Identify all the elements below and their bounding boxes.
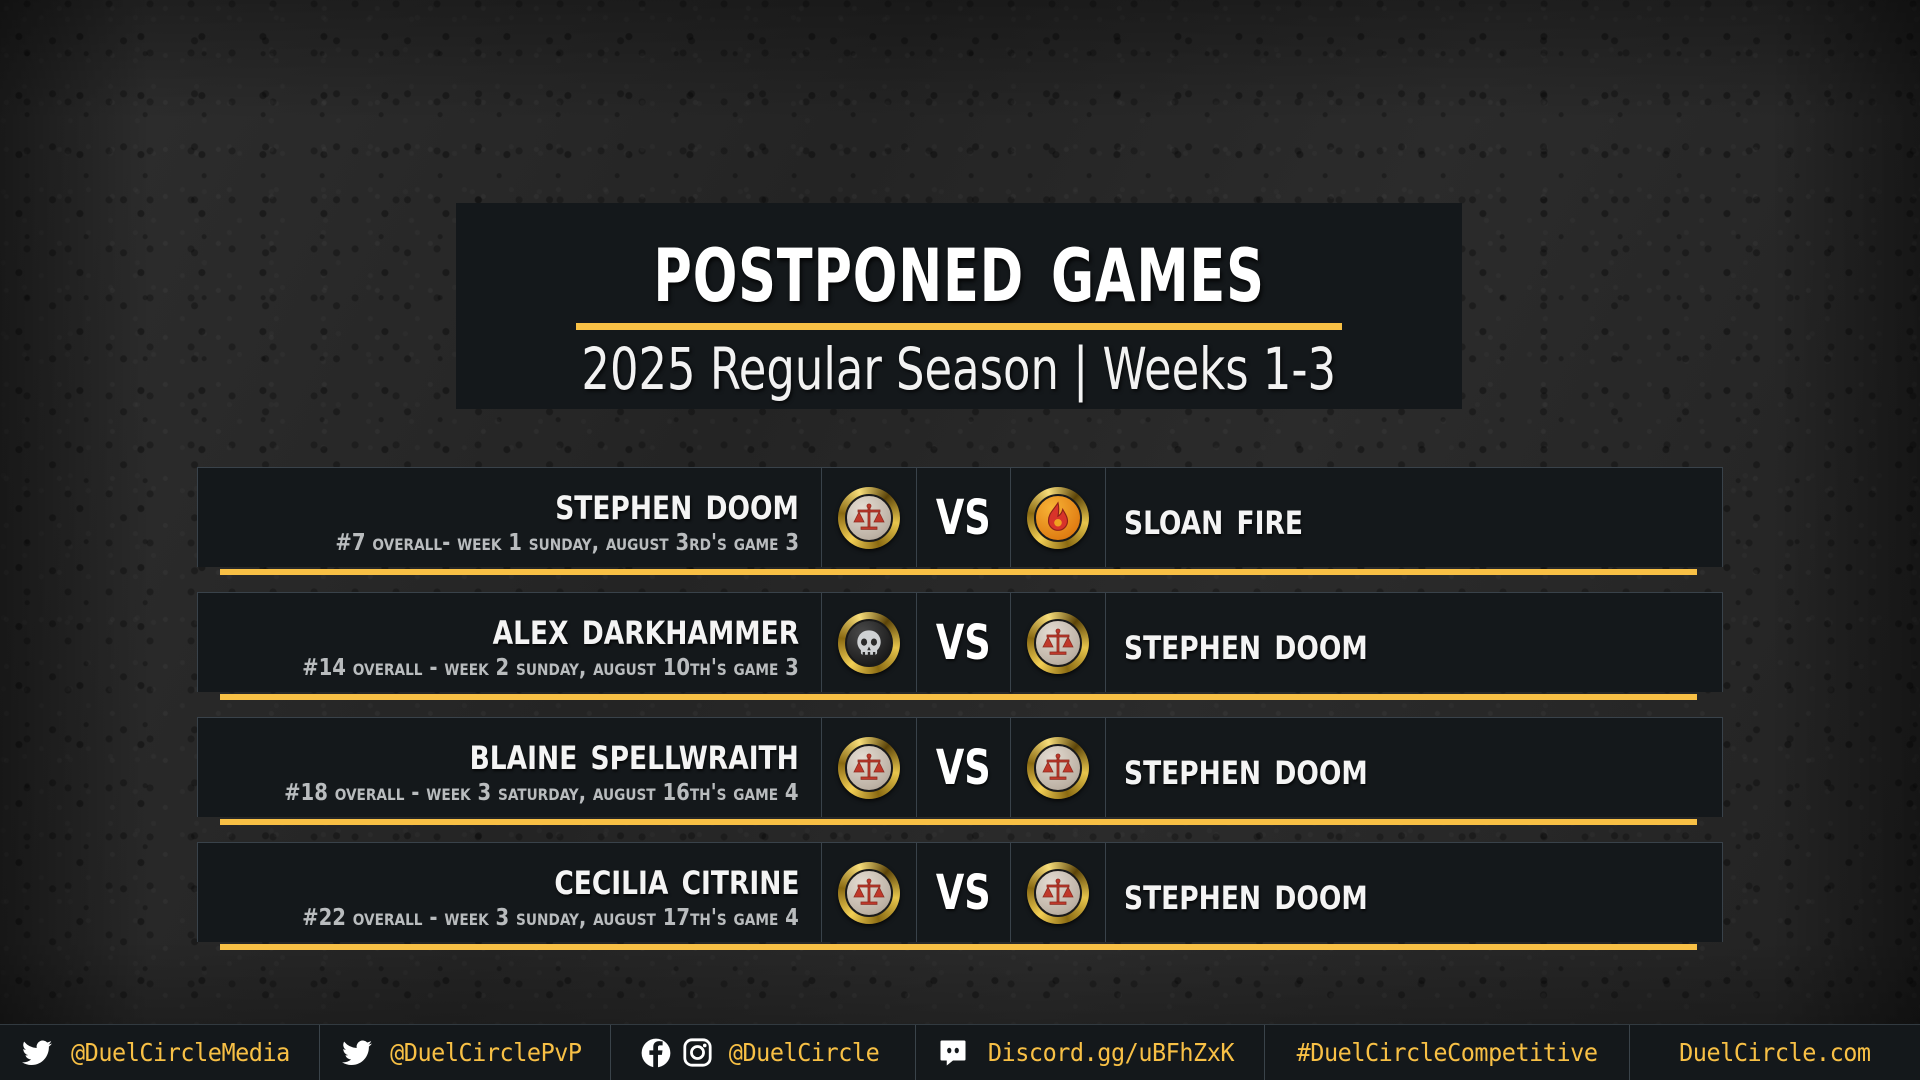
vs-label: VS (936, 619, 991, 667)
right-player-name: Sloan Fire (1124, 494, 1303, 542)
badge-inner (845, 869, 893, 917)
left-player-meta: #22 Overall - Week 3 Sunday, August 17th… (302, 904, 799, 932)
footer-item-hashtag[interactable]: #DuelCircleCompetitive (1265, 1025, 1630, 1080)
footer-label: DuelCircle.com (1679, 1038, 1870, 1067)
match-right-player: Sloan Fire (1106, 468, 1722, 567)
left-player-emblem-cell (822, 718, 917, 817)
footer-label: #DuelCircleCompetitive (1296, 1038, 1597, 1067)
badge-inner (845, 494, 893, 542)
table-row: Stephen Doom #7 Overall- Week 1 Sunday, … (197, 467, 1723, 567)
left-player-name: Stephen Doom (555, 479, 799, 527)
scales-icon (838, 862, 900, 924)
footer-item-discord[interactable]: Discord.gg/uBFhZxK (916, 1025, 1265, 1080)
scales-icon (1027, 737, 1089, 799)
footer-label: @DuelCircleMedia (71, 1038, 290, 1067)
badge-inner (845, 619, 893, 667)
row-accent-rule (220, 944, 1697, 950)
vs-separator: VS (917, 718, 1011, 817)
footer-item-website[interactable]: DuelCircle.com (1630, 1025, 1920, 1080)
badge-inner (1034, 869, 1082, 917)
row-accent-rule (220, 694, 1697, 700)
graphic-stage: Postponed Games 2025 Regular Season | We… (0, 0, 1920, 1080)
vs-label: VS (936, 869, 991, 917)
match-left-player: Blaine Spellwraith #18 Overall - Week 3 … (198, 718, 822, 817)
badge-inner (1034, 494, 1082, 542)
match-left-player: Alex Darkhammer #14 Overall - Week 2 Sun… (198, 593, 822, 692)
row-accent-rule (220, 569, 1697, 575)
instagram-icon (683, 1038, 712, 1067)
right-player-name: Stephen Doom (1124, 869, 1368, 917)
scales-icon (1027, 862, 1089, 924)
footer-item-twitter-pvp[interactable]: @DuelCirclePvP (320, 1025, 611, 1080)
right-player-emblem-cell (1011, 718, 1106, 817)
vs-separator: VS (917, 593, 1011, 692)
left-player-emblem-cell (822, 843, 917, 942)
match-right-player: Stephen Doom (1106, 593, 1722, 692)
badge-inner (1034, 744, 1082, 792)
footer-label: Discord.gg/uBFhZxK (988, 1038, 1234, 1067)
left-player-name: Cecilia Citrine (554, 854, 799, 902)
left-player-meta: #18 Overall - Week 3 Saturday, August 16… (284, 779, 799, 807)
badge-inner (845, 744, 893, 792)
vs-label: VS (936, 494, 991, 542)
badge-inner (1034, 619, 1082, 667)
facebook-icon (641, 1038, 671, 1068)
row-accent-rule (220, 819, 1697, 825)
table-row: Alex Darkhammer #14 Overall - Week 2 Sun… (197, 592, 1723, 692)
table-row: Blaine Spellwraith #18 Overall - Week 3 … (197, 717, 1723, 817)
postponed-games-table: Stephen Doom #7 Overall- Week 1 Sunday, … (197, 467, 1723, 942)
skull-icon (838, 612, 900, 674)
footer-label: @DuelCirclePvP (390, 1038, 581, 1067)
right-player-emblem-cell (1011, 593, 1106, 692)
footer-item-facebook-instagram[interactable]: @DuelCircle (611, 1025, 916, 1080)
social-footer: @DuelCircleMedia @DuelCirclePvP (0, 1024, 1920, 1080)
right-player-emblem-cell (1011, 843, 1106, 942)
right-player-emblem-cell (1011, 468, 1106, 567)
right-player-name: Stephen Doom (1124, 619, 1368, 667)
right-player-name: Stephen Doom (1124, 744, 1368, 792)
twitter-icon (22, 1040, 52, 1066)
vs-label: VS (936, 744, 991, 792)
match-right-player: Stephen Doom (1106, 718, 1722, 817)
match-left-player: Cecilia Citrine #22 Overall - Week 3 Sun… (198, 843, 822, 942)
vs-separator: VS (917, 843, 1011, 942)
left-player-name: Alex Darkhammer (493, 604, 799, 652)
discord-icon (938, 1038, 968, 1068)
footer-item-twitter-media[interactable]: @DuelCircleMedia (0, 1025, 320, 1080)
match-left-player: Stephen Doom #7 Overall- Week 1 Sunday, … (198, 468, 822, 567)
twitter-icon (342, 1040, 372, 1066)
table-row: Cecilia Citrine #22 Overall - Week 3 Sun… (197, 842, 1723, 942)
footer-label: @DuelCircle (729, 1038, 879, 1067)
flame-icon (1027, 487, 1089, 549)
page-title: Postponed Games (653, 209, 1264, 321)
left-player-emblem-cell (822, 468, 917, 567)
scales-icon (838, 487, 900, 549)
page-subtitle: 2025 Regular Season | Weeks 1-3 (582, 336, 1337, 402)
scales-icon (1027, 612, 1089, 674)
left-player-name: Blaine Spellwraith (470, 729, 799, 777)
title-block: Postponed Games 2025 Regular Season | We… (456, 203, 1462, 409)
match-right-player: Stephen Doom (1106, 843, 1722, 942)
left-player-meta: #7 Overall- Week 1 Sunday, August 3rd's … (335, 529, 799, 557)
vs-separator: VS (917, 468, 1011, 567)
left-player-emblem-cell (822, 593, 917, 692)
left-player-meta: #14 Overall - Week 2 Sunday, August 10th… (302, 654, 799, 682)
scales-icon (838, 737, 900, 799)
